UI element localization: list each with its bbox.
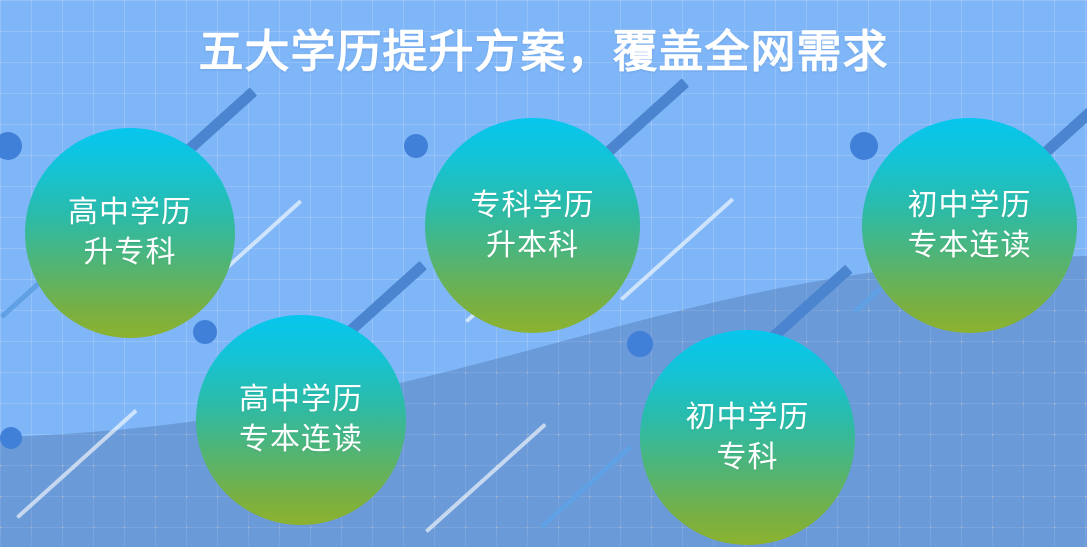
dot-right-top (850, 132, 878, 160)
bubble-2-line2: 专本连读 (239, 420, 363, 460)
bubble-4[interactable]: 初中学历专科 (640, 330, 855, 545)
bubble-1-text: 高中学历升专科 (68, 193, 192, 273)
page-title: 五大学历提升方案，覆盖全网需求 (0, 22, 1087, 82)
bubble-5-text: 初中学历专本连读 (908, 186, 1032, 266)
bubble-1-line1: 高中学历 (68, 193, 192, 233)
bubble-3-line1: 专科学历 (471, 186, 595, 226)
bubble-2-line1: 高中学历 (239, 380, 363, 420)
dot-lower-left (0, 427, 22, 449)
bubble-4-line1: 初中学历 (686, 398, 810, 438)
bubble-5[interactable]: 初中学历专本连读 (862, 118, 1077, 333)
bubble-2-text: 高中学历专本连读 (239, 380, 363, 460)
dot-mid-left (193, 320, 217, 344)
dot-center-top (404, 134, 428, 158)
dot-mid-right (627, 331, 653, 357)
bubble-5-line2: 专本连读 (908, 226, 1032, 266)
bubble-3-text: 专科学历升本科 (471, 186, 595, 266)
bubble-4-line2: 专科 (686, 438, 810, 478)
bubble-3[interactable]: 专科学历升本科 (425, 118, 640, 333)
bubble-4-text: 初中学历专科 (686, 398, 810, 478)
bubble-3-line2: 升本科 (471, 226, 595, 266)
bubble-2[interactable]: 高中学历专本连读 (196, 315, 406, 525)
poster-canvas: 五大学历提升方案，覆盖全网需求 高中学历升专科高中学历专本连读专科学历升本科初中… (0, 0, 1087, 547)
bubble-1-line2: 升专科 (68, 233, 192, 273)
bubble-5-line1: 初中学历 (908, 186, 1032, 226)
bubble-1[interactable]: 高中学历升专科 (25, 128, 235, 338)
